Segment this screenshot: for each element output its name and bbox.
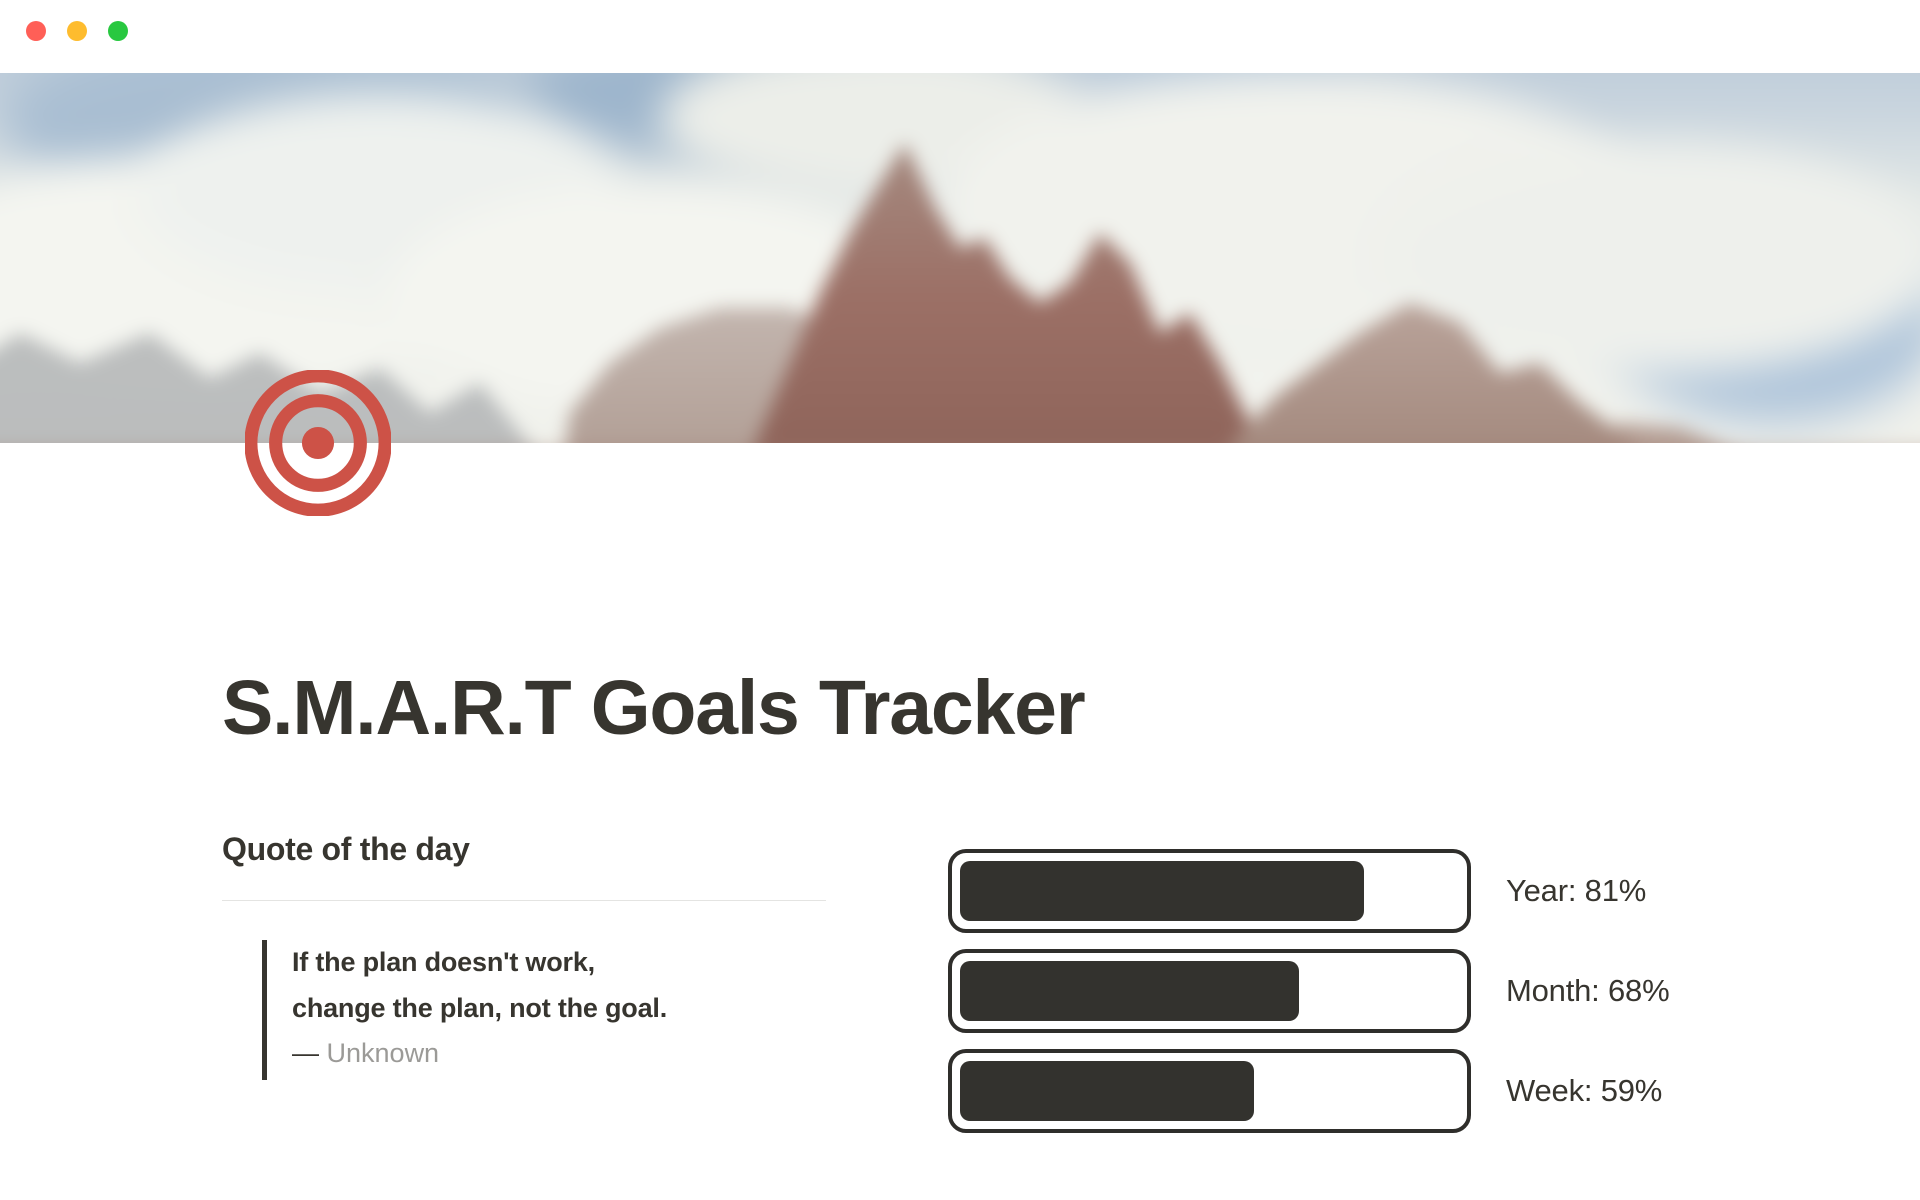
progress-row-month: Month: 68% xyxy=(948,949,1669,1033)
quote-blockquote: If the plan doesn't work, change the pla… xyxy=(262,940,786,1080)
attribution-dash: — xyxy=(292,1038,319,1068)
quote-attribution: — Unknown xyxy=(292,1033,786,1075)
close-window-button[interactable] xyxy=(26,21,46,41)
window-titlebar xyxy=(0,0,1920,73)
progress-label-month: Month: 68% xyxy=(1506,973,1669,1009)
quote-heading: Quote of the day xyxy=(222,830,826,868)
traffic-light-controls xyxy=(26,21,128,41)
minimize-window-button[interactable] xyxy=(67,21,87,41)
progress-bar-year-fill xyxy=(960,861,1364,921)
progress-bar-month[interactable] xyxy=(948,949,1471,1033)
progress-label-year: Year: 81% xyxy=(1506,873,1646,909)
page-title: S.M.A.R.T Goals Tracker xyxy=(222,670,1085,747)
maximize-window-button[interactable] xyxy=(108,21,128,41)
progress-bar-week-fill xyxy=(960,1061,1254,1121)
progress-bar-week[interactable] xyxy=(948,1049,1471,1133)
progress-label-week: Week: 59% xyxy=(1506,1073,1662,1109)
progress-bar-year[interactable] xyxy=(948,849,1471,933)
quote-of-the-day-block: Quote of the day If the plan doesn't wor… xyxy=(222,830,826,1096)
progress-bars-group: Year: 81% Month: 68% Week: 59% xyxy=(948,849,1669,1149)
app-window: S.M.A.R.T Goals Tracker Quote of the day… xyxy=(0,0,1920,1200)
quote-line-1: If the plan doesn't work, xyxy=(292,940,786,985)
quote-line-2: change the plan, not the goal. xyxy=(292,986,786,1031)
progress-row-year: Year: 81% xyxy=(948,849,1669,933)
section-divider xyxy=(222,900,826,901)
progress-bar-month-fill xyxy=(960,961,1299,1021)
attribution-author: Unknown xyxy=(327,1038,440,1068)
progress-row-week: Week: 59% xyxy=(948,1049,1669,1133)
target-icon[interactable] xyxy=(245,370,391,516)
